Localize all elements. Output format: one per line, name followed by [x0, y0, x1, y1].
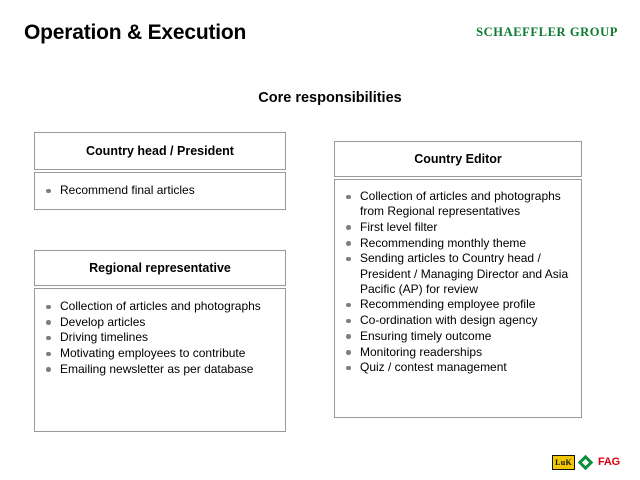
list-item: First level filter — [341, 220, 575, 235]
list-item: Quiz / contest management — [341, 360, 575, 375]
card-country-editor: Country Editor Collection of articles an… — [334, 141, 582, 418]
list-item: Co-ordination with design agency — [341, 313, 575, 328]
responsibility-list: Recommend final articles — [41, 183, 195, 199]
list-item: Recommend final articles — [41, 183, 195, 198]
list-item: Driving timelines — [41, 330, 279, 345]
card-title: Country Editor — [334, 141, 582, 177]
card-body: Collection of articles and photographs f… — [334, 179, 582, 418]
list-item: Collection of articles and photographs f… — [341, 189, 575, 219]
list-item: Collection of articles and photographs — [41, 299, 279, 314]
card-body: Recommend final articles — [34, 172, 286, 210]
luk-logo-icon: LuK — [552, 455, 575, 470]
list-item: Develop articles — [41, 315, 279, 330]
responsibility-list: Collection of articles and photographs f… — [341, 189, 575, 375]
list-item: Recommending monthly theme — [341, 236, 575, 251]
list-item: Ensuring timely outcome — [341, 329, 575, 344]
card-body: Collection of articles and photographs D… — [34, 288, 286, 432]
responsibility-list: Collection of articles and photographs D… — [41, 299, 279, 377]
list-item: Motivating employees to contribute — [41, 346, 279, 361]
list-item: Emailing newsletter as per database — [41, 362, 279, 377]
fag-logo-icon: FAG — [598, 457, 620, 468]
footer-brand-marks: LuK FAG — [552, 455, 620, 470]
list-item: Sending articles to Country head / Presi… — [341, 251, 575, 297]
list-item: Recommending employee profile — [341, 297, 575, 312]
card-regional-representative: Regional representative Collection of ar… — [34, 250, 286, 432]
card-country-head-president: Country head / President Recommend final… — [34, 132, 286, 210]
ina-logo-icon — [579, 455, 594, 470]
section-heading: Core responsibilities — [0, 90, 640, 106]
card-title: Country head / President — [34, 132, 286, 170]
schaeffler-group-logo: SCHAEFFLER GROUP — [476, 25, 618, 40]
card-title: Regional representative — [34, 250, 286, 286]
page-title: Operation & Execution — [24, 22, 246, 43]
list-item: Monitoring readerships — [341, 345, 575, 360]
